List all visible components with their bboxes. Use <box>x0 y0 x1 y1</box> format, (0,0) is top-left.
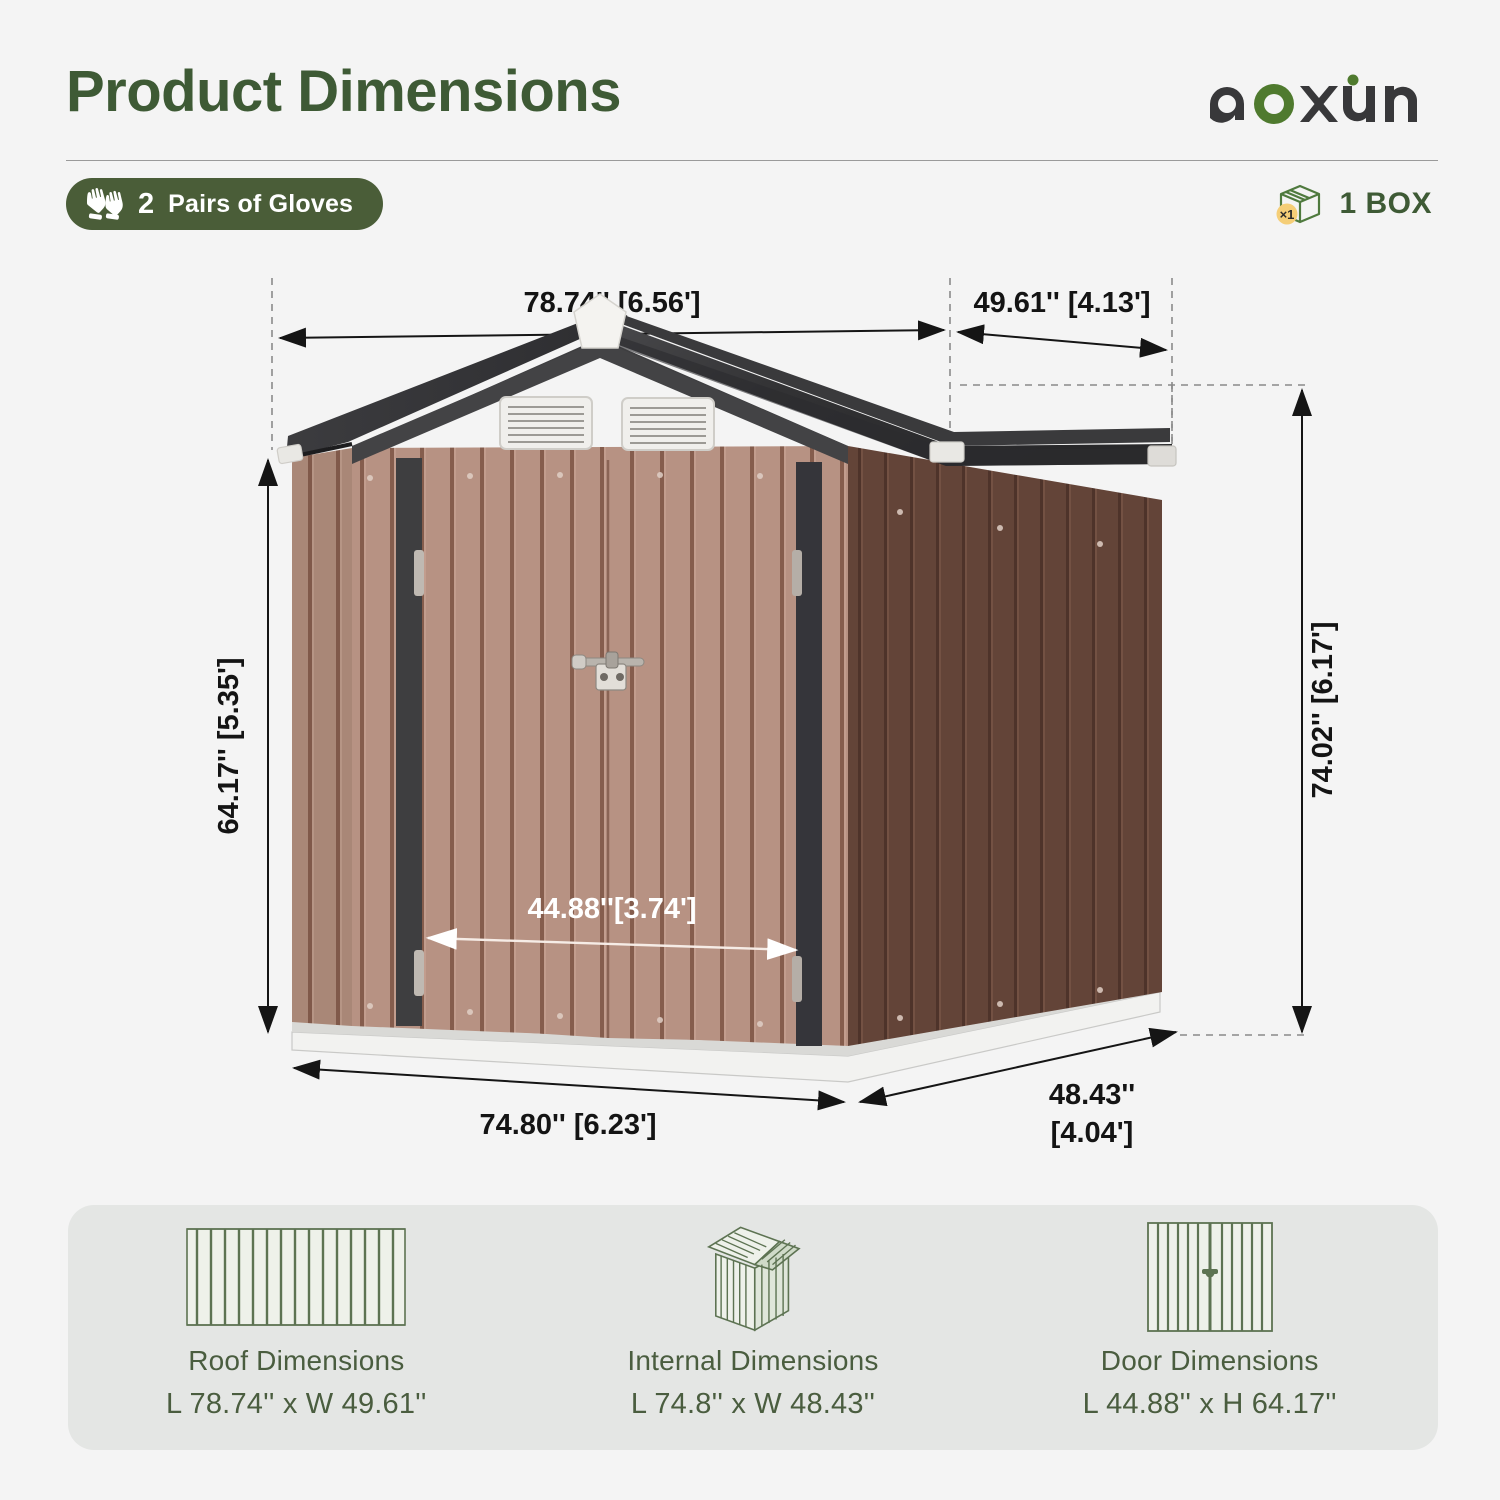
gloves-icon <box>84 186 124 222</box>
roof-panel-icon <box>181 1219 411 1335</box>
gable-vents <box>500 397 714 450</box>
box-label: 1 BOX <box>1339 187 1432 221</box>
vent-right <box>622 398 714 450</box>
dimension-peak-height: 74.02'' [6.17'] <box>1302 390 1339 1032</box>
dimension-roof-width-label: 49.61'' [4.13'] <box>973 287 1150 319</box>
shed-3d-icon <box>691 1219 815 1335</box>
box-multiplier-text: ×1 <box>1280 207 1295 222</box>
door-frame-post-left <box>396 458 422 1026</box>
gloves-label: Pairs of Gloves <box>168 190 353 219</box>
card-internal-title: Internal Dimensions <box>627 1345 878 1377</box>
dimension-wall-height: 64.17'' [5.35'] <box>213 460 268 1032</box>
dimension-roof-width: 49.61'' [4.13'] <box>958 287 1166 350</box>
dimension-peak-height-label: 74.02'' [6.17'] <box>1307 621 1339 798</box>
dimension-cards: Roof Dimensions L 78.74'' x W 49.61'' <box>68 1205 1438 1450</box>
box-icon: ×1 <box>1273 180 1327 228</box>
card-door-dims: L 44.88'' x H 64.17'' <box>1083 1388 1337 1421</box>
header-divider <box>66 160 1438 161</box>
card-roof-title: Roof Dimensions <box>188 1345 404 1377</box>
brand-logo-aoxun <box>1192 58 1432 130</box>
dimension-base-length-label: 74.80'' [6.23'] <box>479 1109 656 1141</box>
card-roof-dims: L 78.74'' x W 49.61'' <box>166 1388 427 1421</box>
page-title: Product Dimensions <box>66 62 621 123</box>
card-internal-dims: L 74.8'' x W 48.43'' <box>631 1388 875 1421</box>
dimension-base-width-label-line2: [4.04'] <box>1051 1117 1134 1149</box>
gloves-badge: 2 Pairs of Gloves <box>66 178 383 230</box>
card-door-dimensions: Door Dimensions L 44.88'' x H 64.17'' <box>981 1205 1438 1450</box>
vent-left <box>500 397 592 449</box>
door-left <box>422 460 608 1038</box>
dimension-base-width-label-line1: 48.43'' <box>1049 1079 1135 1111</box>
card-roof-dimensions: Roof Dimensions L 78.74'' x W 49.61'' <box>68 1205 525 1450</box>
dimension-wall-height-label: 64.17'' [5.35'] <box>213 657 245 834</box>
double-door-icon <box>1140 1219 1280 1335</box>
dimension-door-width-label: 44.88''[3.74'] <box>527 893 696 925</box>
corner-cap-mid <box>930 442 964 462</box>
product-dimensions-infographic: Product Dimensions <box>0 0 1500 1500</box>
dimension-summary-panel: Roof Dimensions L 78.74'' x W 49.61'' <box>68 1205 1438 1450</box>
header: Product Dimensions <box>0 0 1500 250</box>
door-right <box>608 460 796 1042</box>
card-internal-dimensions: Internal Dimensions L 74.8'' x W 48.43'' <box>525 1205 982 1450</box>
card-door-title: Door Dimensions <box>1101 1345 1319 1377</box>
corner-cap-right <box>1148 446 1176 466</box>
shed-illustration <box>277 294 1176 1082</box>
dimension-base-length: 74.80'' [6.23'] <box>294 1068 844 1141</box>
gloves-count: 2 <box>138 188 154 221</box>
box-badge: ×1 1 BOX <box>1273 178 1432 230</box>
shed-diagram: 78.74'' [6.56'] 49.61'' [4.13'] <box>0 250 1500 1180</box>
corner-cap-left <box>277 444 303 464</box>
